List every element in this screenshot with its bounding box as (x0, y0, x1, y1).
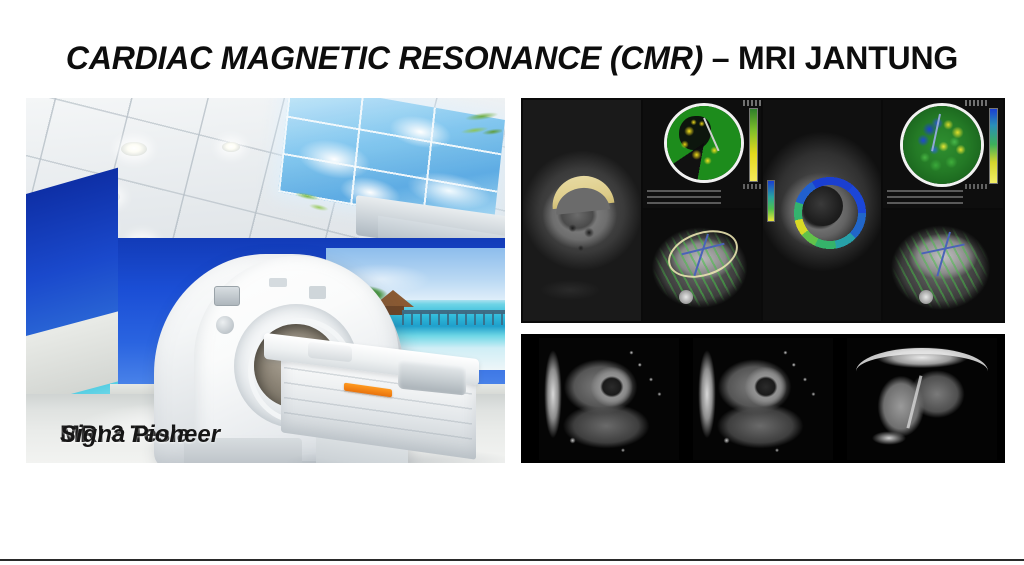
slide-bottom-rule (0, 559, 1024, 561)
cine-short-axis-speckle-2 (693, 338, 833, 460)
colour-bar-max-label (743, 100, 763, 106)
page-title-normal: – MRI JANTUNG (703, 40, 958, 76)
cine-four-chamber (847, 338, 997, 460)
colour-bar-blue-yellow (989, 108, 998, 184)
colour-bar-b-min-label (965, 184, 987, 189)
long-axis-vertebra-a (679, 290, 693, 304)
colour-bar-min-label (743, 184, 763, 189)
short-axis-inline-colour-bar (767, 180, 775, 222)
palm-frond-graphic (439, 102, 504, 150)
mri-room-photograph: MRI 3 Tesla Signa Pioneer (26, 98, 505, 463)
recessed-downlight (121, 142, 147, 156)
photo-caption-italic: Signa Pioneer (60, 418, 220, 452)
polar-map-annotation-text (647, 190, 721, 204)
cine-short-axis-2 (693, 338, 833, 460)
cmr-cine-strip (521, 334, 1005, 463)
page-title: CARDIAC MAGNETIC RESONANCE (CMR) – MRI J… (0, 38, 1024, 78)
cine-short-axis-1 (539, 338, 679, 460)
long-axis-hatch-overlay-b (883, 210, 1003, 321)
polar-bullseye-map-multicolor (903, 106, 981, 184)
magnet-side-panel (309, 286, 326, 299)
recessed-downlight (222, 142, 240, 152)
slide-canvas: CARDIAC MAGNETIC RESONANCE (CMR) – MRI J… (0, 0, 1024, 565)
colour-bar-b-max-label (965, 100, 987, 106)
page-title-italic: CARDIAC MAGNETIC RESONANCE (CMR) (66, 40, 703, 76)
magnet-knob (216, 316, 234, 334)
magnet-control-panel (214, 286, 240, 306)
myocardial-colour-ring (787, 170, 873, 256)
cine-chest-wall-arc (856, 348, 988, 395)
magnet-display-strip (269, 278, 287, 287)
cine-short-axis-speckle-1 (539, 338, 679, 460)
photo-caption: MRI 3 Tesla Signa Pioneer (60, 418, 390, 452)
polar-map-b-annotation-text (887, 190, 963, 204)
cmr-parametric-mapping-panel (521, 98, 1005, 323)
long-axis-vertebra-b (919, 290, 933, 304)
pier-pilings (402, 312, 505, 325)
colour-bar-green-yellow (749, 108, 758, 182)
